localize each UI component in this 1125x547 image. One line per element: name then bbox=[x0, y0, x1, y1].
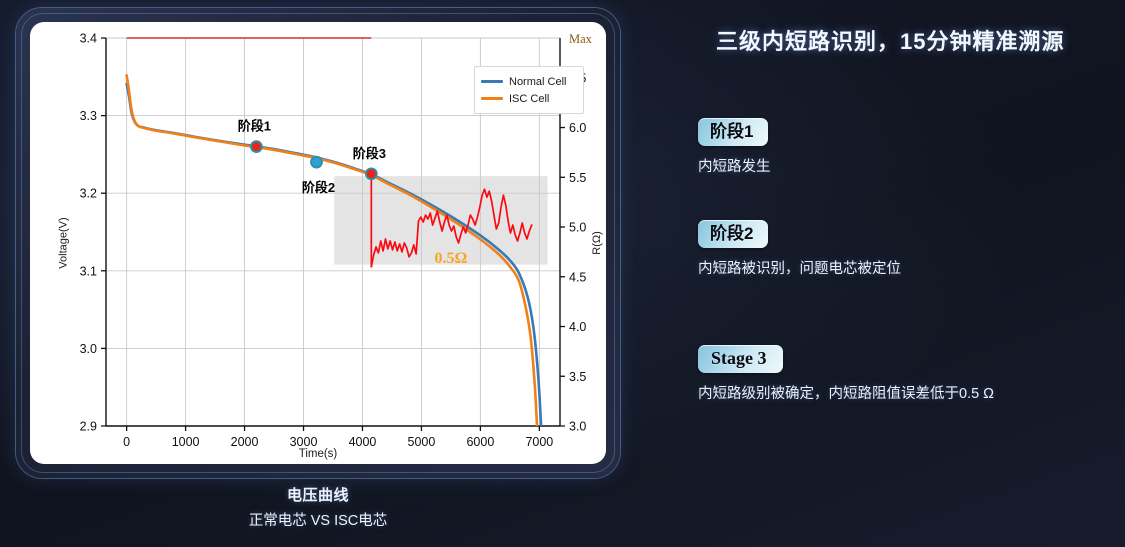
chart-caption: 电压曲线 正常电芯 VS ISC电芯 bbox=[16, 484, 620, 530]
svg-text:7000: 7000 bbox=[525, 435, 553, 449]
svg-text:5.5: 5.5 bbox=[569, 171, 586, 185]
svg-text:4.0: 4.0 bbox=[569, 320, 586, 334]
svg-text:6000: 6000 bbox=[466, 435, 494, 449]
caption-title: 电压曲线 bbox=[16, 484, 620, 505]
svg-text:3.3: 3.3 bbox=[80, 109, 97, 123]
stage-badge-2: 阶段2 bbox=[698, 220, 768, 248]
svg-text:2.9: 2.9 bbox=[80, 420, 97, 434]
svg-text:3000: 3000 bbox=[290, 435, 318, 449]
chart-legend: Normal Cell ISC Cell bbox=[474, 66, 584, 114]
svg-text:2000: 2000 bbox=[231, 435, 259, 449]
svg-text:阶段3: 阶段3 bbox=[353, 146, 386, 161]
svg-text:1000: 1000 bbox=[172, 435, 200, 449]
svg-text:3.0: 3.0 bbox=[80, 342, 97, 356]
svg-text:阶段1: 阶段1 bbox=[238, 119, 271, 134]
stage-desc-3: 内短路级别被确定，内短路阻值误差低于0.5 Ω bbox=[698, 382, 1118, 403]
svg-text:0: 0 bbox=[123, 435, 130, 449]
svg-text:5.0: 5.0 bbox=[569, 221, 586, 235]
svg-text:3.2: 3.2 bbox=[80, 187, 97, 201]
caption-subtitle: 正常电芯 VS ISC电芯 bbox=[16, 509, 620, 530]
svg-text:3.5: 3.5 bbox=[569, 370, 586, 384]
stage-badge-3: Stage 3 bbox=[698, 345, 783, 373]
stage-desc-2: 内短路被识别，问题电芯被定位 bbox=[698, 257, 1118, 278]
voltage-chart: Voltage(V) R(Ω) Time(s) 2.93.03.13.23.33… bbox=[30, 22, 606, 464]
page-title: 三级内短路识别，15分钟精准溯源 bbox=[716, 24, 1125, 56]
svg-text:4000: 4000 bbox=[349, 435, 377, 449]
chart-card-inner: Voltage(V) R(Ω) Time(s) 2.93.03.13.23.33… bbox=[30, 22, 606, 464]
svg-text:5000: 5000 bbox=[408, 435, 436, 449]
legend-item-normal-cell: Normal Cell bbox=[481, 76, 577, 88]
svg-text:3.0: 3.0 bbox=[569, 420, 586, 434]
stage-block-1: 阶段1 内短路发生 bbox=[698, 118, 1118, 176]
stage-block-3: Stage 3 内短路级别被确定，内短路阻值误差低于0.5 Ω bbox=[698, 345, 1118, 403]
legend-label-normal-cell: Normal Cell bbox=[509, 76, 566, 88]
stage-badge-1: 阶段1 bbox=[698, 118, 768, 146]
svg-text:Max: Max bbox=[569, 32, 593, 46]
svg-text:阶段2: 阶段2 bbox=[302, 180, 335, 195]
svg-text:0.5Ω: 0.5Ω bbox=[435, 250, 468, 267]
stage-block-2: 阶段2 内短路被识别，问题电芯被定位 bbox=[698, 220, 1118, 278]
svg-text:3.1: 3.1 bbox=[80, 264, 97, 278]
legend-swatch-normal-cell bbox=[481, 80, 503, 83]
svg-text:4.5: 4.5 bbox=[569, 270, 586, 284]
legend-swatch-isc-cell bbox=[481, 97, 503, 100]
chart-card-frame: Voltage(V) R(Ω) Time(s) 2.93.03.13.23.33… bbox=[16, 8, 620, 478]
svg-text:6.0: 6.0 bbox=[569, 121, 586, 135]
legend-item-isc-cell: ISC Cell bbox=[481, 93, 577, 105]
stages-panel: 三级内短路识别，15分钟精准溯源 阶段1 内短路发生 阶段2 内短路被识别，问题… bbox=[640, 0, 1125, 547]
stage-desc-1: 内短路发生 bbox=[698, 155, 1118, 176]
legend-label-isc-cell: ISC Cell bbox=[509, 93, 549, 105]
svg-text:3.4: 3.4 bbox=[80, 32, 97, 46]
